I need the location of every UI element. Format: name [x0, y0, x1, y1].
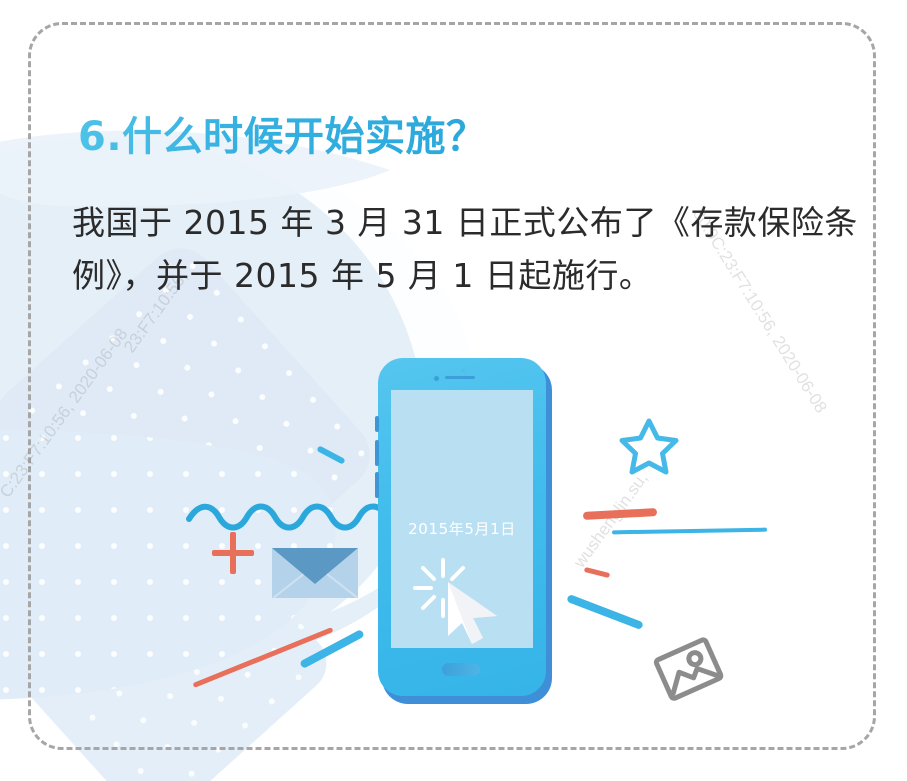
phone-camera-icon: [434, 376, 439, 381]
phone-side-button: [375, 472, 379, 498]
page-title: 6.什么时候开始实施？: [78, 104, 487, 162]
infographic-card-canvas: 6.什么时候开始实施？ 我国于 2015 年 3 月 31 日正式公布了《存款保…: [0, 0, 907, 781]
phone-sensor-dot: [462, 369, 465, 372]
phone-speaker-icon: [445, 376, 475, 379]
star-outline-icon: [616, 416, 682, 478]
phone-screen[interactable]: 2015年5月1日: [391, 390, 533, 648]
phone-side-button: [375, 440, 379, 466]
smartphone-illustration: 2015年5月1日: [378, 358, 548, 700]
photo-image-icon: [652, 636, 726, 704]
screen-date-label: 2015年5月1日: [391, 518, 533, 539]
envelope-icon: [272, 548, 358, 598]
cursor-arrow-icon: [445, 580, 507, 646]
phone-side-button: [375, 416, 379, 432]
body-paragraph: 我国于 2015 年 3 月 31 日正式公布了《存款保险条例》，并于 2015…: [72, 196, 862, 303]
phone-body: 2015年5月1日: [378, 358, 546, 696]
plus-icon: [212, 532, 254, 574]
phone-home-button[interactable]: [442, 663, 480, 676]
